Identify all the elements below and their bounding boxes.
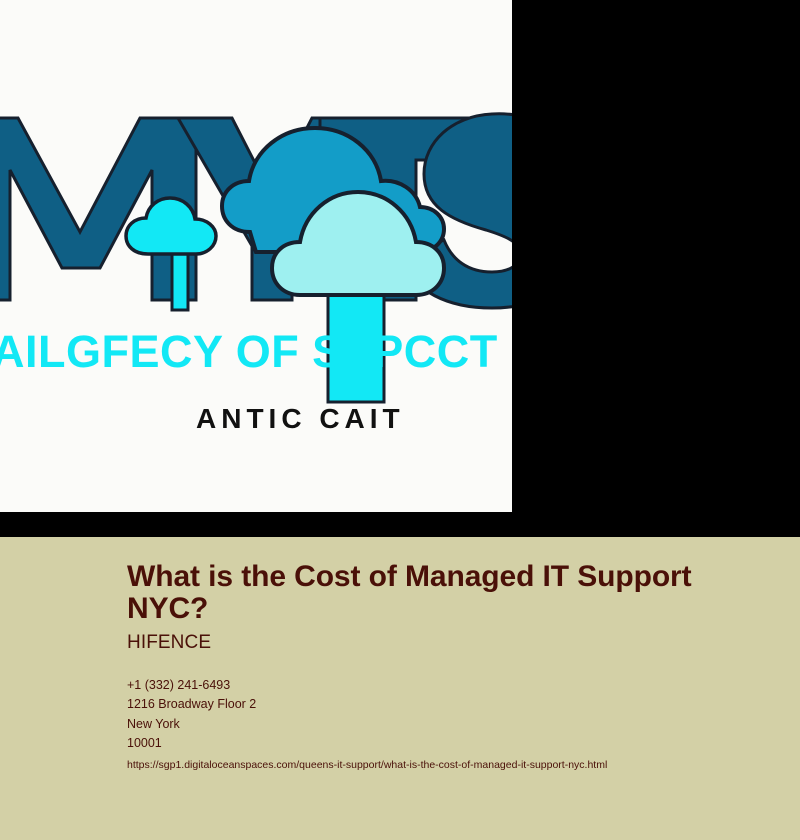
- contact-postal-code: 10001: [127, 734, 256, 753]
- logo-subtagline: ANTIC CAIT: [196, 403, 405, 434]
- logo-tagline: AILGFECY OF SEPCCT: [0, 326, 498, 377]
- contact-list: +1 (332) 241-6493 1216 Broadway Floor 2 …: [127, 676, 256, 754]
- content-panel: What is the Cost of Managed IT Support N…: [0, 537, 800, 840]
- contact-city: New York: [127, 715, 256, 734]
- contact-phone: +1 (332) 241-6493: [127, 676, 256, 695]
- contact-street: 1216 Broadway Floor 2: [127, 695, 256, 714]
- logo-image: AILGFECY OF SEPCCT ANTIC CAIT: [0, 0, 512, 512]
- brand-name: HIFENCE: [127, 632, 211, 654]
- cloud-small-stem: [172, 252, 188, 310]
- page-title: What is the Cost of Managed IT Support N…: [127, 561, 727, 625]
- source-url[interactable]: https://sgp1.digitaloceanspaces.com/quee…: [127, 759, 607, 771]
- logo-artwork: AILGFECY OF SEPCCT ANTIC CAIT: [0, 0, 512, 512]
- media-band: AILGFECY OF SEPCCT ANTIC CAIT: [0, 0, 800, 537]
